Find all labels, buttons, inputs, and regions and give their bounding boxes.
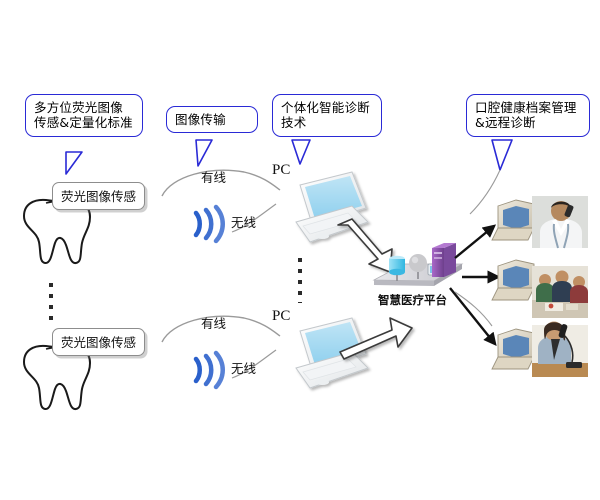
laptop-icon-lower	[296, 318, 368, 388]
smart-medical-platform-icon	[374, 243, 462, 286]
pc-label-upper: PC	[272, 162, 290, 179]
callout-text: 个体化智能诊断技术	[281, 100, 370, 130]
callout-individualized-diagnosis: 个体化智能诊断技术	[272, 94, 382, 137]
sensor-box-lower: 荧光图像传感	[52, 328, 145, 356]
wired-label-upper: 有线	[201, 167, 226, 186]
callout-multi-angle-sensing: 多方位荧光图像传感&定量化标准	[25, 94, 143, 137]
wireless-signal-icon-lower	[196, 353, 223, 387]
sensor-label: 荧光图像传感	[61, 335, 136, 350]
callout-text: 多方位荧光图像传感&定量化标准	[34, 100, 133, 130]
photo-medical-team-meeting	[532, 266, 588, 318]
desktop-computer-icon-1	[492, 200, 534, 240]
distribution-arrows	[450, 226, 498, 344]
flow-arrow-upper	[338, 219, 392, 272]
diagram-vector-layer	[0, 0, 600, 500]
photo-woman-on-telephone	[532, 322, 588, 378]
diagram-canvas: 多方位荧光图像传感&定量化标准 图像传输 个体化智能诊断技术 口腔健康档案管理&…	[0, 0, 600, 500]
pc-label-lower: PC	[272, 308, 290, 325]
flow-arrow-lower	[340, 318, 412, 359]
sensor-box-upper: 荧光图像传感	[52, 182, 145, 210]
callout-leader-lines	[455, 170, 500, 326]
wireless-label-lower: 无线	[231, 358, 256, 377]
wired-label-lower: 有线	[201, 313, 226, 332]
platform-label: 智慧医疗平台	[378, 292, 447, 308]
callout-image-transmission: 图像传输	[166, 106, 258, 133]
desktop-computer-icon-3	[492, 329, 534, 369]
wireless-signal-icon-upper	[196, 207, 223, 241]
callout-oral-health-record: 口腔健康档案管理&远程诊断	[466, 94, 590, 137]
desktop-computer-icon-2	[492, 260, 534, 300]
laptop-icon-upper	[296, 172, 368, 242]
photo-doctor-on-phone	[532, 196, 588, 248]
callout-text: 口腔健康档案管理&远程诊断	[475, 100, 577, 130]
callout-text: 图像传输	[175, 112, 226, 127]
wireless-label-upper: 无线	[231, 212, 256, 231]
sensor-label: 荧光图像传感	[61, 189, 136, 204]
